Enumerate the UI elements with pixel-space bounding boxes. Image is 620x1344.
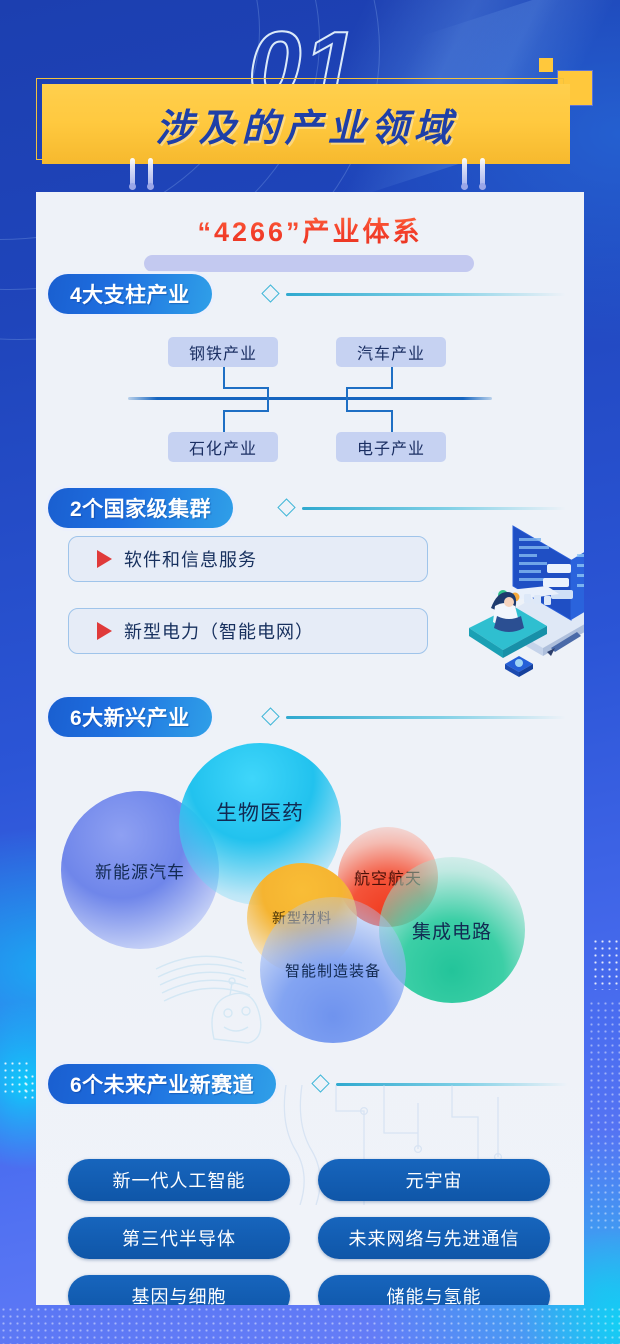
- pillar-axis-line: [128, 397, 492, 400]
- future-btn-metaverse[interactable]: 元宇宙: [318, 1159, 550, 1201]
- emerging-bubble-cluster: 新能源汽车 生物医药 航空航天 新型材料 集成电路 智能制造装备: [36, 735, 584, 1035]
- connector-steel-v: [223, 367, 225, 389]
- cluster-item-label: 新型电力（智能电网）: [124, 618, 314, 644]
- connector-elec-to-axis: [346, 398, 348, 411]
- cluster-item-label: 软件和信息服务: [124, 546, 257, 572]
- dotgrid-left: [2, 1060, 32, 1094]
- system-title-underline: [144, 255, 474, 272]
- system-title-block: “4266”产业体系: [36, 210, 584, 249]
- connector-auto-h: [346, 387, 392, 389]
- pillar-diagram: 钢铁产业 汽车产业 石化产业 电子产业: [36, 327, 584, 472]
- banner-pin-2: [148, 158, 153, 186]
- connector-steel-h: [223, 387, 269, 389]
- connector-petro-v: [223, 410, 225, 432]
- pillar-box-auto[interactable]: 汽车产业: [336, 337, 446, 367]
- bubble-smart-manufacturing[interactable]: 智能制造装备: [260, 897, 406, 1043]
- connector-petro-h: [223, 410, 269, 412]
- connector-auto-v: [391, 367, 393, 389]
- future-btn-semiconductor[interactable]: 第三代半导体: [68, 1217, 290, 1259]
- section-line-pillar: [286, 293, 566, 296]
- dotgrid-bottom: [0, 1306, 620, 1344]
- header: 01 涉及的产业领域: [0, 0, 620, 185]
- dotgrid-right-2: [588, 1000, 620, 1230]
- banner-pin-1: [130, 158, 135, 186]
- content-card: “4266”产业体系 4大支柱产业 钢铁产业 汽车产业 石化产业 电子产业: [36, 192, 584, 1305]
- connector-elec-v: [391, 410, 393, 432]
- header-banner: 涉及的产业领域: [42, 84, 570, 164]
- section-line-emerging: [286, 716, 566, 719]
- section-pill-pillar[interactable]: 4大支柱产业: [48, 274, 212, 314]
- connector-petro-to-axis: [267, 398, 269, 411]
- pillar-box-steel[interactable]: 钢铁产业: [168, 337, 278, 367]
- banner-pin-3: [462, 158, 467, 186]
- laptop-illustration: [451, 516, 584, 681]
- pillar-box-electronics[interactable]: 电子产业: [336, 432, 446, 462]
- section-pill-emerging[interactable]: 6大新兴产业: [48, 697, 212, 737]
- diamond-icon-pillar: [261, 284, 279, 302]
- play-triangle-icon: [97, 622, 112, 640]
- connector-elec-h: [346, 410, 392, 412]
- page-title: 涉及的产业领域: [155, 97, 456, 152]
- cluster-item-power[interactable]: 新型电力（智能电网）: [68, 608, 428, 654]
- future-btn-network[interactable]: 未来网络与先进通信: [318, 1217, 550, 1259]
- future-btn-ai[interactable]: 新一代人工智能: [68, 1159, 290, 1201]
- section-pillar-header: 4大支柱产业: [36, 274, 584, 316]
- section-emerging-header: 6大新兴产业: [36, 697, 584, 739]
- dotgrid-right: [592, 938, 620, 990]
- future-btn-energy[interactable]: 储能与氢能: [318, 1275, 550, 1305]
- diamond-icon-emerging: [261, 707, 279, 725]
- yellow-square-small-icon: [539, 58, 553, 72]
- future-btn-gene-cell[interactable]: 基因与细胞: [68, 1275, 290, 1305]
- system-title: “4266”产业体系: [36, 210, 584, 249]
- banner-pin-4: [480, 158, 485, 186]
- pillar-box-petrochem[interactable]: 石化产业: [168, 432, 278, 462]
- infographic-page: 01 涉及的产业领域 “4266”产业体系 4大支柱产业 钢铁产业 汽车产业 石…: [0, 0, 620, 1344]
- cluster-item-software[interactable]: 软件和信息服务: [68, 536, 428, 582]
- future-track-group: 新一代人工智能 元宇宙 第三代半导体 未来网络与先进通信 基因与细胞 储能与氢能: [36, 1097, 584, 1297]
- cluster-group: 软件和信息服务 新型电力（智能电网）: [36, 488, 584, 688]
- play-triangle-icon: [97, 550, 112, 568]
